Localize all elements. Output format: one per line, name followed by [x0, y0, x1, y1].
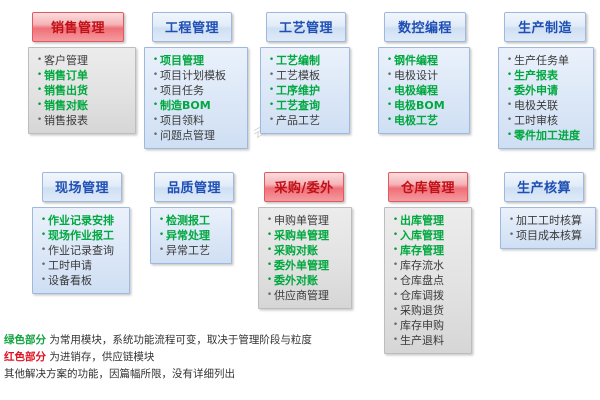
- module-item[interactable]: •工时申请: [39, 258, 125, 273]
- module-item-label: 采购单管理: [274, 228, 347, 243]
- module-item-label: 入库管理: [400, 228, 467, 243]
- module-item-label: 项目管理: [160, 53, 243, 68]
- module-item[interactable]: •异常处理: [157, 228, 227, 243]
- module-item-label: 库存管理: [400, 243, 467, 258]
- module-item-list: •工艺编制•工艺模板•工序维护•工艺查询•产品工艺: [260, 47, 350, 134]
- bullet-icon: •: [391, 213, 400, 228]
- module-item-label: 项目成本核算: [516, 228, 591, 243]
- bullet-icon: •: [35, 98, 44, 113]
- bullet-icon: •: [267, 113, 276, 128]
- module-item[interactable]: •电极编程: [385, 83, 465, 98]
- module-item-label: 工艺查询: [276, 98, 345, 113]
- module-item[interactable]: •工艺查询: [267, 98, 345, 113]
- module-item-label: 问题点管理: [160, 128, 243, 143]
- module-item-label: 客户管理: [44, 53, 131, 68]
- module-item[interactable]: •电极设计: [385, 68, 465, 83]
- module-item-label: 电极关联: [514, 98, 589, 113]
- module-item[interactable]: •采购退货: [391, 303, 467, 318]
- module-card: 工程管理•项目管理•项目计划模板•项目任务•制造BOM•项目领料•问题点管理: [152, 12, 248, 149]
- module-title[interactable]: 销售管理: [32, 12, 124, 42]
- module-item-label: 工艺模板: [276, 68, 345, 83]
- module-card: 生产制造•生产任务单•生产报表•委外申请•电极关联•工时审核•零件加工进度: [504, 12, 594, 149]
- module-title[interactable]: 品质管理: [154, 172, 234, 202]
- bullet-icon: •: [265, 288, 274, 303]
- legend-row-note: 其他解决方案的功能，因篇幅所限，没有详细列出: [4, 366, 424, 383]
- module-item[interactable]: •检测报工: [157, 213, 227, 228]
- module-item-label: 销售对账: [44, 98, 131, 113]
- bullet-icon: •: [391, 288, 400, 303]
- bullet-icon: •: [385, 53, 394, 68]
- legend: 绿色部分 为常用模块，系统功能流程可变，取决于管理阶段与粒度 红色部分 为进销存…: [4, 332, 424, 383]
- bullet-icon: •: [505, 98, 514, 113]
- module-item-label: 仓库盘点: [400, 273, 467, 288]
- bullet-icon: •: [385, 113, 394, 128]
- module-item-list: •项目管理•项目计划模板•项目任务•制造BOM•项目领料•问题点管理: [144, 47, 248, 149]
- module-title[interactable]: 工艺管理: [266, 12, 346, 42]
- bullet-icon: •: [505, 128, 514, 143]
- bullet-icon: •: [385, 68, 394, 83]
- module-item-label: 现场作业报工: [48, 228, 125, 243]
- bullet-icon: •: [35, 68, 44, 83]
- bullet-icon: •: [267, 98, 276, 113]
- module-item-list: •客户管理•销售订单•销售出货•销售对账•销售报表: [28, 47, 136, 134]
- bullet-icon: •: [39, 258, 48, 273]
- module-item-label: 申购单管理: [274, 213, 347, 228]
- module-item[interactable]: •作业记录查询: [39, 243, 125, 258]
- module-item-label: 加工工时核算: [516, 213, 591, 228]
- bullet-icon: •: [385, 83, 394, 98]
- module-title[interactable]: 生产核算: [504, 172, 584, 202]
- module-item[interactable]: •供应商管理: [265, 288, 347, 303]
- module-item-label: 作业记录查询: [48, 243, 125, 258]
- bullet-icon: •: [39, 213, 48, 228]
- bullet-icon: •: [265, 213, 274, 228]
- module-title[interactable]: 仓库管理: [388, 172, 468, 202]
- module-item-label: 工序维护: [276, 83, 345, 98]
- bullet-icon: •: [151, 98, 160, 113]
- module-title[interactable]: 生产制造: [504, 12, 586, 42]
- module-item-list: •申购单管理•采购单管理•采购对账•委外单管理•委外对账•供应商管理: [258, 207, 352, 309]
- module-item-label: 异常工艺: [166, 243, 227, 258]
- module-item-label: 委外单管理: [274, 258, 347, 273]
- module-item-label: 生产报表: [514, 68, 589, 83]
- bullet-icon: •: [267, 68, 276, 83]
- module-item-label: 生产任务单: [514, 53, 589, 68]
- bullet-icon: •: [35, 113, 44, 128]
- bullet-icon: •: [157, 213, 166, 228]
- bullet-icon: •: [157, 228, 166, 243]
- module-title[interactable]: 现场管理: [42, 172, 122, 202]
- module-item-label: 项目任务: [160, 83, 243, 98]
- module-item-label: 电极BOM: [394, 98, 465, 113]
- module-item-list: •加工工时核算•项目成本核算: [500, 207, 596, 249]
- legend-row-red: 红色部分 为进销存，供应链模块: [4, 349, 424, 366]
- module-item-label: 电极编程: [394, 83, 465, 98]
- module-item[interactable]: •仓库盘点: [391, 273, 467, 288]
- module-item[interactable]: •工艺编制: [267, 53, 345, 68]
- module-item-list: •钢件编程•电极设计•电极编程•电极BOM•电极工艺: [378, 47, 470, 134]
- bullet-icon: •: [385, 98, 394, 113]
- bullet-icon: •: [391, 273, 400, 288]
- module-item[interactable]: •委外申请: [505, 83, 589, 98]
- module-item[interactable]: •电极关联: [505, 98, 589, 113]
- bullet-icon: •: [391, 228, 400, 243]
- module-item[interactable]: •项目成本核算: [507, 228, 591, 243]
- module-item[interactable]: •设备看板: [39, 273, 125, 288]
- module-item-label: 电极设计: [394, 68, 465, 83]
- module-item-list: •检测报工•异常处理•异常工艺: [150, 207, 232, 264]
- bullet-icon: •: [35, 83, 44, 98]
- bullet-icon: •: [151, 53, 160, 68]
- module-item[interactable]: •销售订单: [35, 68, 131, 83]
- module-item-label: 销售出货: [44, 83, 131, 98]
- module-card: 生产核算•加工工时核算•项目成本核算: [504, 172, 596, 249]
- module-item[interactable]: •项目任务: [151, 83, 243, 98]
- module-card: 采购/委外•申购单管理•采购单管理•采购对账•委外单管理•委外对账•供应商管理: [264, 172, 352, 309]
- diagram-canvas: 云易云软件价 销售管理•客户管理•销售订单•销售出货•销售对账•销售报表工程管理…: [0, 0, 600, 400]
- module-card: 数控编程•钢件编程•电极设计•电极编程•电极BOM•电极工艺: [384, 12, 470, 134]
- bullet-icon: •: [505, 83, 514, 98]
- module-item[interactable]: •销售出货: [35, 83, 131, 98]
- module-item[interactable]: •制造BOM: [151, 98, 243, 113]
- module-item-label: 委外对账: [274, 273, 347, 288]
- module-item[interactable]: •库存申购: [391, 318, 467, 333]
- module-item-label: 库存申购: [400, 318, 467, 333]
- module-card: 现场管理•作业记录安排•现场作业报工•作业记录查询•工时申请•设备看板: [42, 172, 130, 294]
- bullet-icon: •: [39, 243, 48, 258]
- module-item[interactable]: •电极工艺: [385, 113, 465, 128]
- module-item-label: 工艺编制: [276, 53, 345, 68]
- module-item[interactable]: •工序维护: [267, 83, 345, 98]
- bullet-icon: •: [267, 53, 276, 68]
- module-item[interactable]: •客户管理: [35, 53, 131, 68]
- module-item-label: 采购退货: [400, 303, 467, 318]
- module-card: 工艺管理•工艺编制•工艺模板•工序维护•工艺查询•产品工艺: [266, 12, 350, 134]
- module-item[interactable]: •出库管理: [391, 213, 467, 228]
- module-item-label: 设备看板: [48, 273, 125, 288]
- module-item[interactable]: •委外单管理: [265, 258, 347, 273]
- module-item-label: 项目计划模板: [160, 68, 243, 83]
- legend-red-text: 为进销存，供应链模块: [46, 351, 154, 363]
- module-card: 仓库管理•出库管理•入库管理•库存管理•库存流水•仓库盘点•仓库调拨•采购退货•…: [388, 172, 472, 354]
- module-item-label: 工时审核: [514, 113, 589, 128]
- bullet-icon: •: [505, 68, 514, 83]
- module-item-label: 工时申请: [48, 258, 125, 273]
- legend-red-key: 红色部分: [4, 351, 46, 363]
- legend-green-key: 绿色部分: [4, 334, 46, 346]
- bullet-icon: •: [157, 243, 166, 258]
- bullet-icon: •: [39, 228, 48, 243]
- module-item[interactable]: •现场作业报工: [39, 228, 125, 243]
- module-item-label: 委外申请: [514, 83, 589, 98]
- module-item[interactable]: •销售对账: [35, 98, 131, 113]
- module-item-label: 检测报工: [166, 213, 227, 228]
- module-item[interactable]: •异常工艺: [157, 243, 227, 258]
- module-item-label: 产品工艺: [276, 113, 345, 128]
- module-item-label: 出库管理: [400, 213, 467, 228]
- module-item-label: 仓库调拨: [400, 288, 467, 303]
- module-card: 销售管理•客户管理•销售订单•销售出货•销售对账•销售报表: [32, 12, 136, 134]
- module-item-label: 销售报表: [44, 113, 131, 128]
- module-item-label: 零件加工进度: [514, 128, 589, 143]
- module-item-label: 制造BOM: [160, 98, 243, 113]
- legend-green-text: 为常用模块，系统功能流程可变，取决于管理阶段与粒度: [46, 334, 312, 346]
- module-item-label: 采购对账: [274, 243, 347, 258]
- module-item[interactable]: •库存管理: [391, 243, 467, 258]
- module-item-list: •作业记录安排•现场作业报工•作业记录查询•工时申请•设备看板: [32, 207, 130, 294]
- module-item[interactable]: •委外对账: [265, 273, 347, 288]
- bullet-icon: •: [391, 258, 400, 273]
- module-item[interactable]: •申购单管理: [265, 213, 347, 228]
- module-item[interactable]: •加工工时核算: [507, 213, 591, 228]
- module-item-label: 销售订单: [44, 68, 131, 83]
- module-item-label: 钢件编程: [394, 53, 465, 68]
- bullet-icon: •: [265, 273, 274, 288]
- module-item-label: 供应商管理: [274, 288, 347, 303]
- module-title[interactable]: 工程管理: [152, 12, 232, 42]
- module-title[interactable]: 采购/委外: [264, 172, 344, 202]
- bullet-icon: •: [391, 303, 400, 318]
- module-item[interactable]: •钢件编程: [385, 53, 465, 68]
- module-item[interactable]: •工时审核: [505, 113, 589, 128]
- module-item[interactable]: •项目领料: [151, 113, 243, 128]
- module-title[interactable]: 数控编程: [384, 12, 466, 42]
- module-item[interactable]: •仓库调拨: [391, 288, 467, 303]
- bullet-icon: •: [391, 318, 400, 333]
- bullet-icon: •: [505, 53, 514, 68]
- module-item[interactable]: •零件加工进度: [505, 128, 589, 143]
- bullet-icon: •: [35, 53, 44, 68]
- bullet-icon: •: [391, 243, 400, 258]
- module-item-label: 库存流水: [400, 258, 467, 273]
- module-item[interactable]: •工艺模板: [267, 68, 345, 83]
- bullet-icon: •: [265, 243, 274, 258]
- module-item[interactable]: •库存流水: [391, 258, 467, 273]
- module-item[interactable]: •问题点管理: [151, 128, 243, 143]
- bullet-icon: •: [151, 113, 160, 128]
- module-item[interactable]: •项目计划模板: [151, 68, 243, 83]
- module-item-label: 作业记录安排: [48, 213, 125, 228]
- module-item[interactable]: •产品工艺: [267, 113, 345, 128]
- bullet-icon: •: [505, 113, 514, 128]
- module-card: 品质管理•检测报工•异常处理•异常工艺: [154, 172, 234, 264]
- module-item[interactable]: •电极BOM: [385, 98, 465, 113]
- module-item[interactable]: •项目管理: [151, 53, 243, 68]
- bullet-icon: •: [507, 228, 516, 243]
- module-item[interactable]: •作业记录安排: [39, 213, 125, 228]
- module-item[interactable]: •采购单管理: [265, 228, 347, 243]
- bullet-icon: •: [507, 213, 516, 228]
- module-item-label: 电极工艺: [394, 113, 465, 128]
- module-item[interactable]: •采购对账: [265, 243, 347, 258]
- module-item-label: 异常处理: [166, 228, 227, 243]
- module-item-label: 项目领料: [160, 113, 243, 128]
- bullet-icon: •: [265, 228, 274, 243]
- bullet-icon: •: [265, 258, 274, 273]
- module-item[interactable]: •生产任务单: [505, 53, 589, 68]
- bullet-icon: •: [39, 273, 48, 288]
- module-item[interactable]: •生产报表: [505, 68, 589, 83]
- bullet-icon: •: [151, 128, 160, 143]
- module-item[interactable]: •入库管理: [391, 228, 467, 243]
- module-item[interactable]: •销售报表: [35, 113, 131, 128]
- bullet-icon: •: [151, 68, 160, 83]
- legend-row-green: 绿色部分 为常用模块，系统功能流程可变，取决于管理阶段与粒度: [4, 332, 424, 349]
- module-item-list: •生产任务单•生产报表•委外申请•电极关联•工时审核•零件加工进度: [498, 47, 594, 149]
- bullet-icon: •: [151, 83, 160, 98]
- bullet-icon: •: [267, 83, 276, 98]
